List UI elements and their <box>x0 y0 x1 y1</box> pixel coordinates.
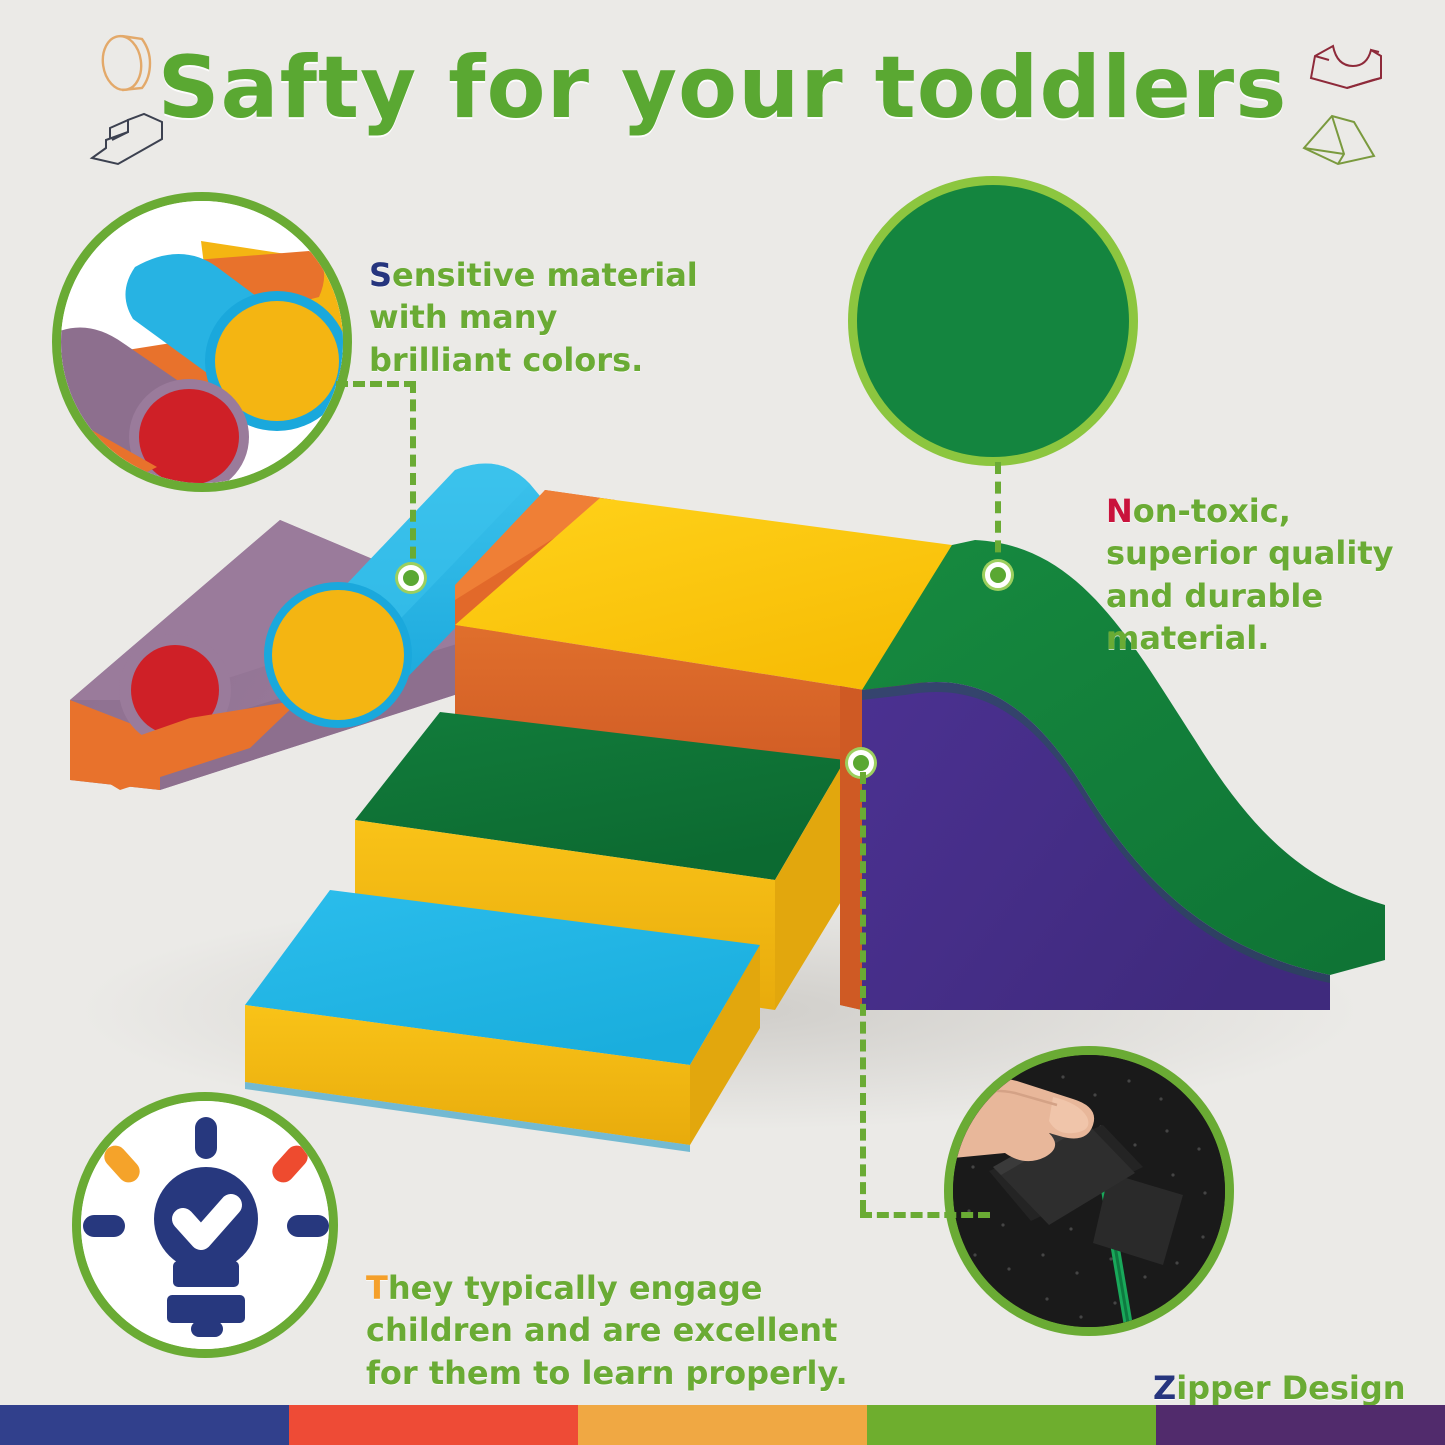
feature-circle-zipper <box>944 1046 1234 1336</box>
bulb-base <box>167 1295 245 1323</box>
callout-zipper-design-text: ipper Design <box>1176 1369 1405 1407</box>
connector-nontoxic-endpoint <box>985 562 1011 588</box>
connector-zipper-vertical <box>860 772 866 1212</box>
callout-sensitive-material-initial: S <box>369 256 392 294</box>
footer-color-strip <box>0 1405 1445 1445</box>
strip-band-3 <box>578 1405 867 1445</box>
callout-sensitive-material-text: ensitive material with many brilliant co… <box>369 256 698 378</box>
strip-band-4 <box>867 1405 1156 1445</box>
strip-band-5 <box>1156 1405 1445 1445</box>
infographic-canvas: Safty for your toddlers <box>0 0 1445 1445</box>
callout-zipper-design: Zipper Design <box>1153 1325 1406 1409</box>
ray-top <box>195 1117 217 1159</box>
connector-zipper-horizontal <box>860 1212 990 1218</box>
connector-material-horizontal <box>336 381 416 387</box>
ray-left <box>83 1215 125 1237</box>
bulb-neck <box>173 1261 239 1287</box>
bulb-tip <box>191 1321 223 1337</box>
strip-band-1 <box>0 1405 289 1445</box>
connector-material-vertical <box>410 381 416 577</box>
callout-non-toxic-text: on-toxic, superior quality and durable m… <box>1106 492 1393 657</box>
strip-band-2 <box>289 1405 578 1445</box>
callout-non-toxic: Non-toxic, superior quality and durable … <box>1106 448 1445 659</box>
connector-material-endpoint <box>398 565 424 591</box>
callout-non-toxic-initial: N <box>1106 492 1133 530</box>
callout-zipper-design-initial: Z <box>1153 1369 1176 1407</box>
platform-right-sliver <box>840 686 862 1010</box>
ray-right <box>287 1215 329 1237</box>
feature-circle-green-swatch <box>848 176 1138 466</box>
callout-engage-children-initial: T <box>366 1269 388 1307</box>
callout-engage-children: They typically engage children and are e… <box>366 1225 848 1394</box>
feature-circle-foam-rolls <box>52 192 352 492</box>
connector-nontoxic-vertical <box>995 462 1001 572</box>
callout-sensitive-material: Sensitive material with many brilliant c… <box>369 212 698 381</box>
feature-circle-lightbulb <box>72 1092 338 1358</box>
callout-engage-children-text: hey typically engage children and are ex… <box>366 1269 848 1391</box>
